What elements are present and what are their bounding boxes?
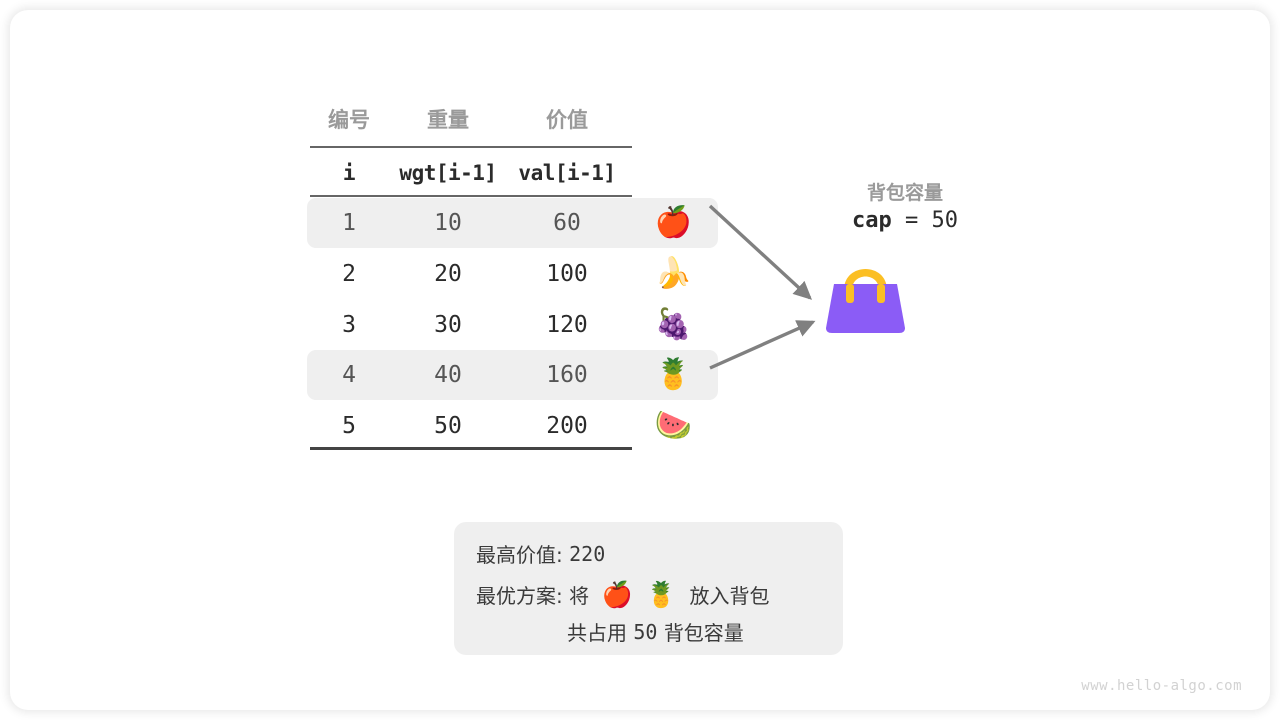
cap-gap	[918, 208, 931, 233]
total-prefix: 共占用	[567, 617, 627, 646]
table-row[interactable]: 3 30 120 🍇	[307, 300, 718, 350]
result-panel: 最高价值: 220 最优方案: 将 🍎 🍍 放入背包 共占用 50 背包容量	[454, 522, 843, 655]
cell-weight: 20	[391, 261, 505, 287]
cell-index: 5	[307, 413, 391, 439]
cell-index: 1	[307, 210, 391, 236]
banana-icon: 🍌	[629, 259, 718, 289]
cell-value: 160	[505, 362, 629, 388]
handbag-icon	[818, 250, 913, 335]
result-total-line: 共占用 50 背包容量	[567, 617, 744, 646]
table-header-code: i wgt[i-1] val[i-1]	[307, 148, 718, 198]
table-header-cn: 编号 重量 价值	[307, 94, 718, 144]
cap-keyword: cap	[852, 208, 892, 233]
total-number: 50	[633, 620, 657, 644]
header-cn-weight: 重量	[391, 104, 505, 134]
table-row[interactable]: 1 10 60 🍎	[307, 198, 718, 248]
header-code-wgt: wgt[i-1]	[391, 161, 505, 185]
cell-index: 2	[307, 261, 391, 287]
result-max-value-line: 最高价值: 220	[476, 539, 605, 568]
plan-verb: 将	[569, 580, 589, 609]
cell-weight: 40	[391, 362, 505, 388]
cap-operator	[892, 208, 905, 233]
max-value-number: 220	[569, 542, 605, 566]
plan-label: 最优方案:	[476, 580, 563, 609]
cell-value: 200	[505, 413, 629, 439]
arrow-apple-to-bag	[710, 206, 810, 298]
pineapple-icon: 🍍	[629, 360, 718, 390]
cell-index: 3	[307, 312, 391, 338]
cell-value: 120	[505, 312, 629, 338]
max-value-label: 最高价值:	[476, 539, 563, 568]
table-row[interactable]: 4 40 160 🍍	[307, 350, 718, 400]
table-row[interactable]: 5 50 200 🍉	[307, 401, 718, 451]
cell-weight: 50	[391, 413, 505, 439]
plan-suffix: 放入背包	[690, 580, 770, 609]
cell-value: 100	[505, 261, 629, 287]
arrow-pineapple-to-bag	[710, 322, 813, 368]
watermelon-icon: 🍉	[629, 411, 718, 441]
header-code-val: val[i-1]	[505, 161, 629, 185]
total-suffix: 背包容量	[664, 617, 744, 646]
plan-gap-3	[633, 583, 646, 607]
site-watermark: www.hello-algo.com	[1081, 678, 1242, 694]
plan-gap-2	[589, 583, 602, 607]
bag-body	[826, 284, 905, 333]
header-cn-value: 价值	[505, 104, 629, 134]
diagram-card: 编号 重量 价值 i wgt[i-1] val[i-1] 1 10 60 🍎 2…	[10, 10, 1270, 710]
knapsack-capacity-value: cap = 50	[800, 208, 1010, 233]
cell-value: 60	[505, 210, 629, 236]
grapes-icon: 🍇	[629, 310, 718, 340]
plan-pineapple-icon: 🍍	[646, 582, 677, 607]
plan-apple-icon: 🍎	[602, 582, 633, 607]
header-cn-index: 编号	[307, 104, 391, 134]
cell-weight: 30	[391, 312, 505, 338]
header-code-i: i	[307, 161, 391, 185]
cap-equals: =	[905, 208, 918, 233]
plan-gap-4	[677, 583, 690, 607]
knapsack-capacity-label: 背包容量	[800, 178, 1010, 205]
cell-weight: 10	[391, 210, 505, 236]
cell-index: 4	[307, 362, 391, 388]
result-plan-line: 最优方案: 将 🍎 🍍 放入背包	[476, 580, 770, 609]
bag-handle-left-tip	[846, 284, 854, 303]
table-row[interactable]: 2 20 100 🍌	[307, 249, 718, 299]
bag-handle-right-tip	[877, 284, 885, 303]
apple-icon: 🍎	[629, 208, 718, 238]
cap-number: 50	[932, 208, 959, 233]
